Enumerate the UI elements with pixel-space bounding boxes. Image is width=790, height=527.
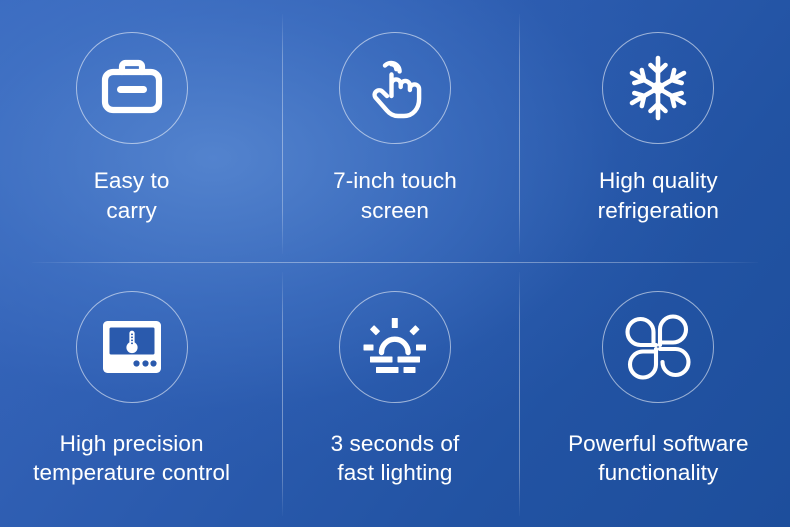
icon-circle-fast-lighting: [339, 291, 451, 403]
feature-label-easy-to-carry: Easy to carry: [94, 166, 170, 225]
icon-circle-touch-screen: [339, 32, 451, 144]
feature-label-refrigeration: High quality refrigeration: [598, 166, 719, 225]
briefcase-icon: [99, 58, 165, 118]
snowflake-icon: [624, 54, 692, 122]
thermostat-panel-icon: [100, 318, 164, 376]
feature-cell-software-functionality[interactable]: Powerful software functionality: [527, 264, 790, 527]
touch-hand-icon: [363, 55, 427, 121]
feature-cell-easy-to-carry[interactable]: Easy to carry: [0, 0, 263, 264]
feature-label-fast-lighting: 3 seconds of fast lighting: [331, 429, 460, 488]
feature-label-touch-screen: 7-inch touch screen: [333, 166, 457, 225]
icon-circle-temperature-control: [76, 291, 188, 403]
sunrise-light-icon: [362, 317, 428, 377]
feature-cell-touch-screen[interactable]: 7-inch touch screen: [263, 0, 526, 264]
feature-label-software-functionality: Powerful software functionality: [568, 429, 749, 488]
feature-cell-temperature-control[interactable]: High precision temperature control: [0, 264, 263, 527]
icon-circle-easy-to-carry: [76, 32, 188, 144]
icon-circle-refrigeration: [602, 32, 714, 144]
feature-label-temperature-control: High precision temperature control: [33, 429, 230, 488]
feature-cell-fast-lighting[interactable]: 3 seconds of fast lighting: [263, 264, 526, 527]
feature-grid-banner: Easy to carry 7-inch touch screen: [0, 0, 790, 527]
feature-grid: Easy to carry 7-inch touch screen: [0, 0, 790, 527]
clover-icon: [624, 313, 692, 381]
feature-cell-refrigeration[interactable]: High quality refrigeration: [527, 0, 790, 264]
icon-circle-software-functionality: [602, 291, 714, 403]
